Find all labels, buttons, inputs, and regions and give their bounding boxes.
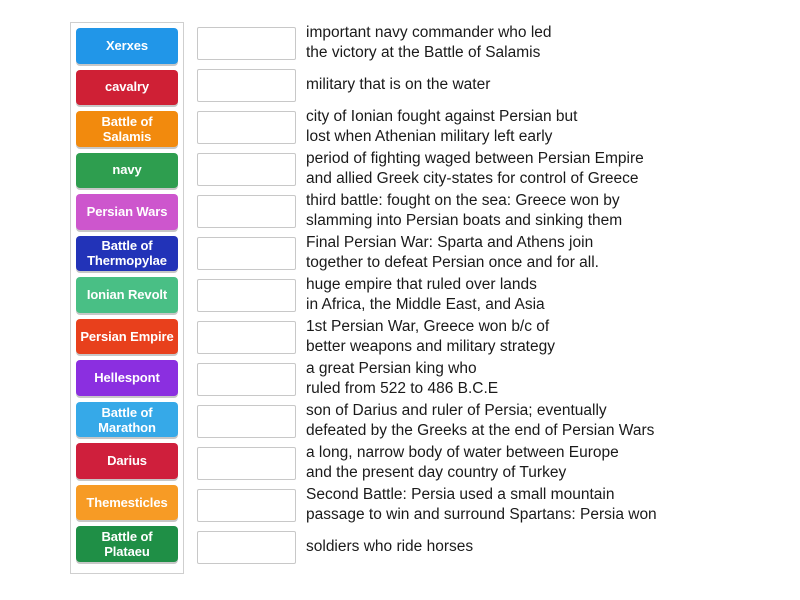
answer-dropzone[interactable]	[197, 321, 296, 354]
match-up-activity: XerxescavalryBattle of SalamisnavyPersia…	[0, 0, 800, 600]
term-tile-label: Battle of Plataeu	[78, 529, 176, 559]
answer-dropzone[interactable]	[197, 237, 296, 270]
definition-text: city of Ionian fought against Persian bu…	[306, 107, 742, 147]
term-tile-label: Battle of Thermopylae	[78, 238, 176, 268]
definition-row: Second Battle: Persia used a small mount…	[197, 484, 742, 526]
definition-row: soldiers who ride horses	[197, 526, 742, 568]
term-tile[interactable]: navy	[76, 153, 178, 189]
answer-dropzone[interactable]	[197, 447, 296, 480]
answer-dropzone[interactable]	[197, 27, 296, 60]
definition-text: Final Persian War: Sparta and Athens joi…	[306, 233, 742, 273]
definition-rows: important navy commander who led the vic…	[197, 22, 742, 568]
answer-dropzone[interactable]	[197, 153, 296, 186]
definition-row: Final Persian War: Sparta and Athens joi…	[197, 232, 742, 274]
term-tile[interactable]: Themesticles	[76, 485, 178, 521]
term-tile-label: Persian Empire	[78, 329, 176, 344]
definition-text: soldiers who ride horses	[306, 537, 742, 557]
term-tile[interactable]: Battle of Marathon	[76, 402, 178, 438]
term-tile[interactable]: Ionian Revolt	[76, 277, 178, 313]
draggable-term-tiles: XerxescavalryBattle of SalamisnavyPersia…	[70, 22, 184, 574]
definition-text: son of Darius and ruler of Persia; event…	[306, 401, 742, 441]
term-tile-label: navy	[78, 163, 176, 177]
answer-dropzone[interactable]	[197, 531, 296, 564]
definition-row: military that is on the water	[197, 64, 742, 106]
term-tile-label: Themesticles	[78, 496, 176, 510]
answer-dropzone[interactable]	[197, 363, 296, 396]
definition-row: city of Ionian fought against Persian bu…	[197, 106, 742, 148]
definition-row: important navy commander who led the vic…	[197, 22, 742, 64]
definition-text: Second Battle: Persia used a small mount…	[306, 485, 742, 525]
term-tile-label: Battle of Salamis	[78, 114, 176, 144]
answer-dropzone[interactable]	[197, 111, 296, 144]
term-tile[interactable]: cavalry	[76, 70, 178, 106]
term-tile-label: cavalry	[78, 80, 176, 94]
definition-text: a great Persian king who ruled from 522 …	[306, 359, 742, 399]
answer-dropzone[interactable]	[197, 69, 296, 102]
definition-row: huge empire that ruled over lands in Afr…	[197, 274, 742, 316]
answer-dropzone[interactable]	[197, 405, 296, 438]
definition-row: period of fighting waged between Persian…	[197, 148, 742, 190]
term-tile[interactable]: Battle of Thermopylae	[76, 236, 178, 272]
term-tile[interactable]: Battle of Plataeu	[76, 526, 178, 562]
definition-text: military that is on the water	[306, 75, 742, 95]
term-tile-label: Battle of Marathon	[78, 405, 176, 435]
term-tile-label: Xerxes	[78, 39, 176, 53]
definition-row: a great Persian king who ruled from 522 …	[197, 358, 742, 400]
definition-text: period of fighting waged between Persian…	[306, 149, 742, 189]
definition-text: important navy commander who led the vic…	[306, 23, 742, 63]
answer-dropzone[interactable]	[197, 489, 296, 522]
definition-row: son of Darius and ruler of Persia; event…	[197, 400, 742, 442]
term-tile[interactable]: Hellespont	[76, 360, 178, 396]
definition-text: a long, narrow body of water between Eur…	[306, 443, 742, 483]
term-tile-label: Persian Wars	[78, 205, 176, 219]
term-tile[interactable]: Battle of Salamis	[76, 111, 178, 147]
answer-dropzone[interactable]	[197, 195, 296, 228]
definition-text: 1st Persian War, Greece won b/c of bette…	[306, 317, 742, 357]
term-tile[interactable]: Xerxes	[76, 28, 178, 64]
definition-text: third battle: fought on the sea: Greece …	[306, 191, 742, 231]
term-tile-label: Ionian Revolt	[78, 288, 176, 302]
term-tile-label: Darius	[78, 454, 176, 468]
definition-row: a long, narrow body of water between Eur…	[197, 442, 742, 484]
definition-row: third battle: fought on the sea: Greece …	[197, 190, 742, 232]
definition-row: 1st Persian War, Greece won b/c of bette…	[197, 316, 742, 358]
term-tile-label: Hellespont	[78, 371, 176, 385]
answer-dropzone[interactable]	[197, 279, 296, 312]
definition-text: huge empire that ruled over lands in Afr…	[306, 275, 742, 315]
term-tile[interactable]: Persian Empire	[76, 319, 178, 355]
term-tile[interactable]: Darius	[76, 443, 178, 479]
term-tile[interactable]: Persian Wars	[76, 194, 178, 230]
